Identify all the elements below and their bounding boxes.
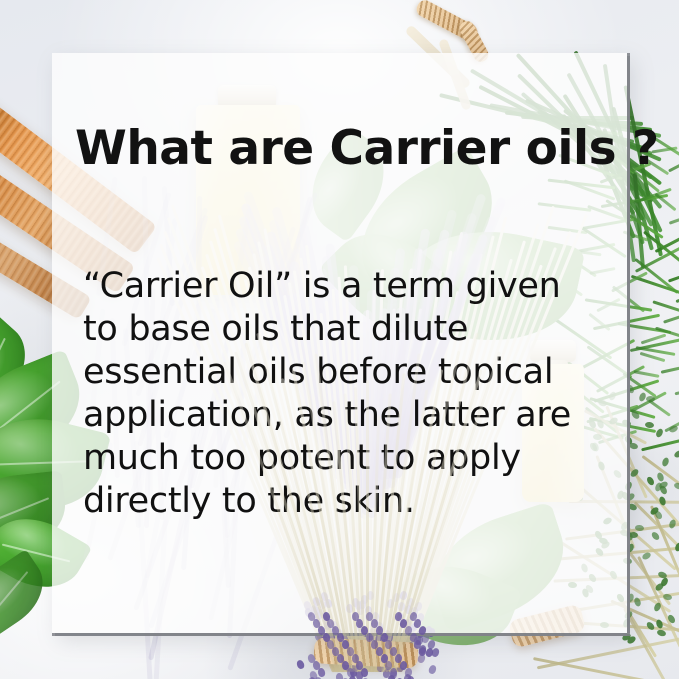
body-line: to base oils that dilute — [83, 308, 613, 351]
lavender-bud-front — [346, 668, 354, 678]
thyme-leaf — [646, 396, 655, 402]
lavender-bud-front — [361, 668, 368, 677]
body-line: “Carrier Oil” is a term given — [83, 265, 613, 308]
body-line: essential oils before topical — [83, 351, 613, 394]
body-line: directly to the skin. — [83, 480, 613, 523]
body-paragraph: “Carrier Oil” is a term given to base oi… — [83, 265, 613, 523]
page-title: What are Carrier oils ? — [75, 125, 659, 172]
infographic-canvas: What are Carrier oils ? “Carrier Oil” is… — [0, 0, 679, 679]
